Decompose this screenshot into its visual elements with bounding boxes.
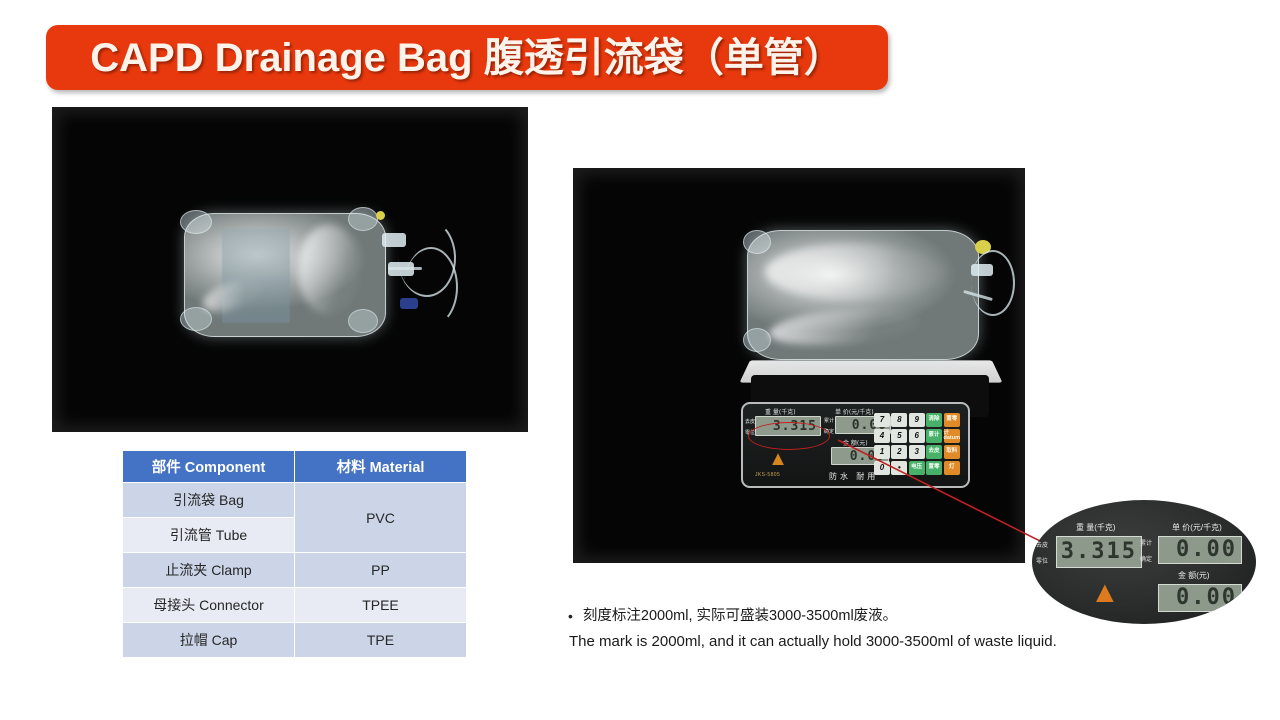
tube-loop-lower xyxy=(404,247,458,327)
keypad-key-13[interactable]: 去皮 xyxy=(926,445,942,459)
bullet-icon: • xyxy=(568,606,573,626)
keypad-key-2[interactable]: 9 xyxy=(909,413,925,427)
tube-segment xyxy=(388,267,422,270)
callout-unit-price-display: 0.00 xyxy=(1158,536,1242,564)
callout-key-confirm: 确定 xyxy=(1140,554,1152,563)
scale-keypad[interactable]: 789清除置零456累计计datum123去皮取料0•电压置零灯 xyxy=(874,413,960,475)
material-pp: PP xyxy=(295,553,467,588)
keypad-key-18[interactable]: 置零 xyxy=(926,461,942,475)
keypad-key-1[interactable]: 8 xyxy=(891,413,907,427)
key-total-label[interactable]: 累计 xyxy=(824,417,834,424)
bag-highlight-right xyxy=(298,225,360,315)
key-tare-label[interactable]: 去皮 xyxy=(745,418,755,425)
component-tube: 引流管 Tube xyxy=(123,518,295,553)
callout-weight-value: 3.315 xyxy=(1061,541,1137,563)
keypad-key-11[interactable]: 2 xyxy=(891,445,907,459)
scale-control-panel: 重 量(千克) 3.315 去皮 零位 单 价(元/千克) 0.00 累计 确定… xyxy=(741,402,970,488)
keypad-key-16[interactable]: • xyxy=(891,461,907,475)
scale-model-text: JKS-5805 xyxy=(755,472,780,478)
keypad-key-6[interactable]: 5 xyxy=(891,429,907,443)
key-zero-label[interactable]: 零位 xyxy=(745,429,755,436)
cap-icon xyxy=(376,211,385,220)
callout-weight-display: 3.315 xyxy=(1056,536,1142,568)
material-pvc: PVC xyxy=(295,483,467,553)
weight-value: 3.315 xyxy=(773,420,817,433)
table-row: 引流袋 Bag PVC xyxy=(123,483,467,518)
note-chinese: 刻度标注2000ml, 实际可盛装3000-3500ml废液。 xyxy=(583,606,897,626)
header-material: 材料 Material xyxy=(295,451,467,483)
callout-amount-value: 0.00 xyxy=(1176,587,1237,609)
callout-unit-price-label: 单 价(元/千克) xyxy=(1172,522,1222,533)
component-clamp: 止流夹 Clamp xyxy=(123,553,295,588)
callout-key-tare: 去皮 xyxy=(1036,540,1048,549)
header-component: 部件 Component xyxy=(123,451,295,483)
keypad-key-15[interactable]: 0 xyxy=(874,461,890,475)
keypad-key-3[interactable]: 清除 xyxy=(926,413,942,427)
photo-bag-on-scale: 重 量(千克) 3.315 去皮 零位 单 价(元/千克) 0.00 累计 确定… xyxy=(573,168,1025,563)
scale-waterproof-text: 防水 耐用 xyxy=(829,471,878,482)
keypad-key-10[interactable]: 1 xyxy=(874,445,890,459)
title-banner: CAPD Drainage Bag 腹透引流袋（单管） xyxy=(46,25,888,90)
amount-label: 金 额(元) xyxy=(843,438,868,447)
bag-highlight-top xyxy=(765,244,945,300)
table-row: 拉帽 Cap TPE xyxy=(123,623,467,658)
product-photo-drainage-bag xyxy=(52,107,528,432)
keypad-key-12[interactable]: 3 xyxy=(909,445,925,459)
callout-unit-price-value: 0.00 xyxy=(1176,539,1237,561)
callout-amount-label: 金 额(元) xyxy=(1178,570,1210,581)
note-english: The mark is 2000ml, and it can actually … xyxy=(569,632,1128,652)
notes-block: • 刻度标注2000ml, 实际可盛装3000-3500ml废液。 The ma… xyxy=(568,606,1128,652)
component-bag: 引流袋 Bag xyxy=(123,483,295,518)
keypad-key-14[interactable]: 取料 xyxy=(944,445,961,459)
material-tpe: TPE xyxy=(295,623,467,658)
drainage-bag-illustration xyxy=(52,107,528,432)
table-header-row: 部件 Component 材料 Material xyxy=(123,451,467,483)
keypad-key-19[interactable]: 灯 xyxy=(944,461,961,475)
tube-loop-scale xyxy=(971,250,1015,316)
callout-key-zero: 零位 xyxy=(1036,556,1048,565)
keypad-key-7[interactable]: 6 xyxy=(909,429,925,443)
material-table: 部件 Component 材料 Material 引流袋 Bag PVC 引流管… xyxy=(122,450,467,658)
keypad-key-0[interactable]: 7 xyxy=(874,413,890,427)
keypad-key-9[interactable]: 计datum xyxy=(944,429,961,443)
weight-label: 重 量(千克) xyxy=(765,407,796,416)
keypad-key-5[interactable]: 4 xyxy=(874,429,890,443)
note-chinese-row: • 刻度标注2000ml, 实际可盛装3000-3500ml废液。 xyxy=(568,606,1128,626)
key-confirm-label[interactable]: 确定 xyxy=(824,428,834,435)
callout-key-total: 累计 xyxy=(1140,538,1152,547)
material-tpee: TPEE xyxy=(295,588,467,623)
table-row: 母接头 Connector TPEE xyxy=(123,588,467,623)
keypad-key-17[interactable]: 电压 xyxy=(909,461,925,475)
weight-display: 3.315 xyxy=(755,416,821,436)
component-cap: 拉帽 Cap xyxy=(123,623,295,658)
keypad-key-4[interactable]: 置零 xyxy=(944,413,961,427)
callout-brand-logo-icon: ▲ xyxy=(1090,578,1120,608)
table-row: 止流夹 Clamp PP xyxy=(123,553,467,588)
scale-brand-logo-icon: ▲ xyxy=(761,448,795,474)
unit-price-label: 单 价(元/千克) xyxy=(835,407,874,416)
callout-weight-label: 重 量(千克) xyxy=(1076,522,1116,533)
keypad-key-8[interactable]: 累计 xyxy=(926,429,942,443)
drainage-bag-on-scale-illustration xyxy=(573,168,1025,563)
component-connector: 母接头 Connector xyxy=(123,588,295,623)
callout-amount-display: 0.00 xyxy=(1158,584,1242,612)
page-title: CAPD Drainage Bag 腹透引流袋（单管） xyxy=(90,38,843,78)
